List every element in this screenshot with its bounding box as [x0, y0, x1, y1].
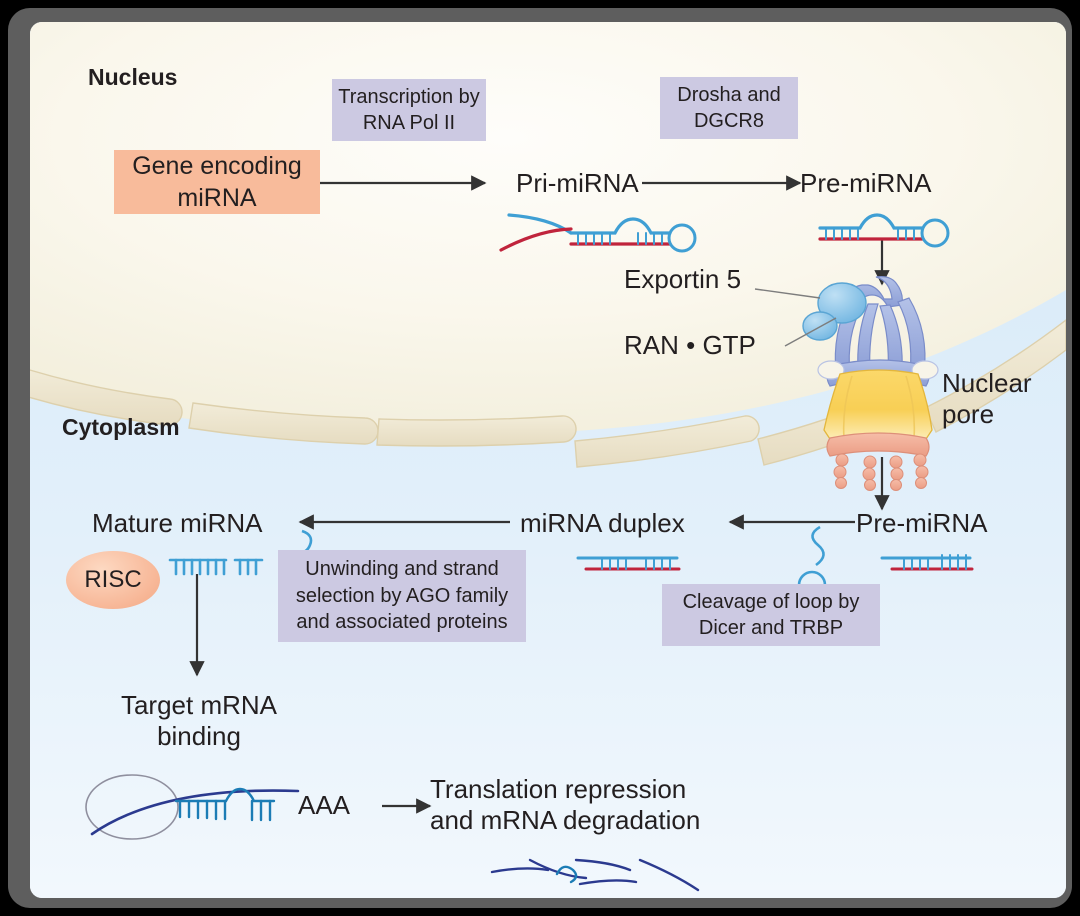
process-box-transcription: Transcription by RNA Pol II — [332, 79, 486, 141]
risc-oval: RISC — [66, 551, 160, 609]
process-box-dicer: Cleavage of loop by Dicer and TRBP — [662, 584, 880, 646]
label-ran-gtp: RAN • GTP — [624, 330, 756, 361]
node-label-target-mrna-binding: Target mRNA binding — [88, 690, 310, 751]
image-frame: Nucleus Cytoplasm Gene encoding miRNA Tr… — [8, 8, 1072, 908]
pore-body — [824, 370, 932, 442]
mature-mirna-structure — [170, 560, 262, 574]
label-nuclear-pore: Nuclear pore — [942, 368, 1032, 429]
node-label-mature-mirna: Mature miRNA — [92, 508, 262, 539]
diagram-canvas: Nucleus Cytoplasm Gene encoding miRNA Tr… — [30, 22, 1066, 898]
node-label-pre-mirna-cytoplasm: Pre-miRNA — [856, 508, 987, 539]
compartment-label-cytoplasm: Cytoplasm — [62, 414, 180, 441]
compartment-label-nucleus: Nucleus — [88, 64, 177, 91]
node-label-pre-mirna-nucleus: Pre-miRNA — [800, 168, 931, 199]
node-label-pri-mirna: Pri-miRNA — [516, 168, 639, 199]
node-label-mirna-duplex: miRNA duplex — [520, 508, 685, 539]
process-box-unwinding: Unwinding and strand selection by AGO fa… — [278, 550, 526, 642]
node-label-translation-outcome: Translation repression and mRNA degradat… — [430, 774, 700, 835]
label-exportin5: Exportin 5 — [624, 264, 741, 295]
process-box-drosha: Drosha and DGCR8 — [660, 77, 798, 139]
gene-encoding-mirna-box: Gene encoding miRNA — [114, 150, 320, 214]
node-label-poly-a: AAA — [298, 790, 350, 821]
